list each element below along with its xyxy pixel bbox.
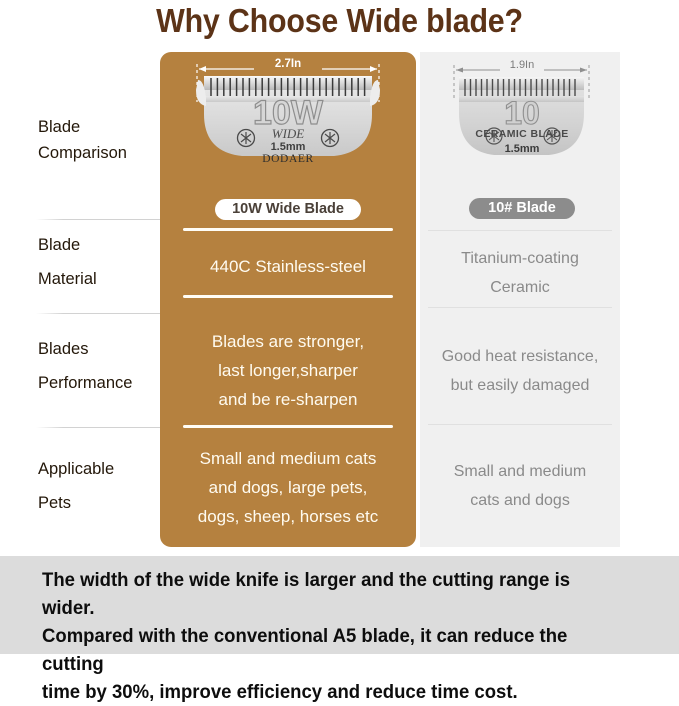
row-divider (36, 313, 160, 314)
product-pill-left: 10W Wide Blade (215, 199, 361, 220)
cell-performance-left: Blades are stronger, last longer,sharper… (172, 327, 404, 414)
panel-divider (428, 230, 612, 231)
row-label-column: Blade Comparison Blade Material Blades P… (0, 52, 160, 547)
row-label-blades-performance: Blades Performance (38, 336, 160, 396)
blade-size-label: 1.5mm (271, 141, 306, 153)
blade-word-label: WIDE (272, 126, 305, 141)
blade-word-label: CERAMIC BLADE (475, 128, 568, 140)
product-column-standard-blade: 10 CERAMIC BLADE 1.5mm 1.9In 10# Blade T… (420, 52, 620, 547)
blade-size-label: 1.5mm (505, 143, 540, 155)
blade-number-label: 10 (504, 95, 540, 131)
row-label-applicable-pets: Applicable Pets (38, 456, 160, 516)
panel-divider (183, 228, 393, 231)
cell-performance-right: Good heat resistance, but easily damaged (424, 342, 616, 400)
cell-pets-left: Small and medium cats and dogs, large pe… (172, 444, 404, 531)
blade-brand-label: DODAER (262, 153, 314, 165)
blade-dimension-label: 1.9In (510, 59, 534, 71)
row-label-blade-comparison: Blade Comparison (38, 114, 160, 166)
footer-band: The width of the wide knife is larger an… (0, 556, 679, 654)
blade-dimension-label: 2.7In (275, 58, 301, 70)
cell-material-right: Titanium-coating Ceramic (424, 244, 616, 302)
comparison-table: Blade Comparison Blade Material Blades P… (0, 52, 679, 547)
blade-image-10w: 10W WIDE 1.5mm DODAER 2.7In (184, 56, 392, 196)
cell-material-left: 440C Stainless-steel (172, 252, 404, 281)
panel-divider (183, 425, 393, 428)
footer-description: The width of the wide knife is larger an… (42, 566, 618, 706)
product-column-wide-blade: 10W WIDE 1.5mm DODAER 2.7In 10W Wide Bla… (160, 52, 416, 547)
product-pill-right: 10# Blade (469, 198, 575, 219)
panel-divider (428, 424, 612, 425)
panel-divider (183, 295, 393, 298)
blade-image-10: 10 CERAMIC BLADE 1.5mm 1.9In (444, 58, 599, 193)
row-divider (36, 219, 160, 220)
cell-pets-right: Small and medium cats and dogs (424, 457, 616, 515)
row-label-blade-material: Blade Material (38, 232, 160, 292)
page-title: Why Choose Wide blade? (27, 2, 652, 40)
panel-divider (428, 307, 612, 308)
row-divider (36, 427, 160, 428)
